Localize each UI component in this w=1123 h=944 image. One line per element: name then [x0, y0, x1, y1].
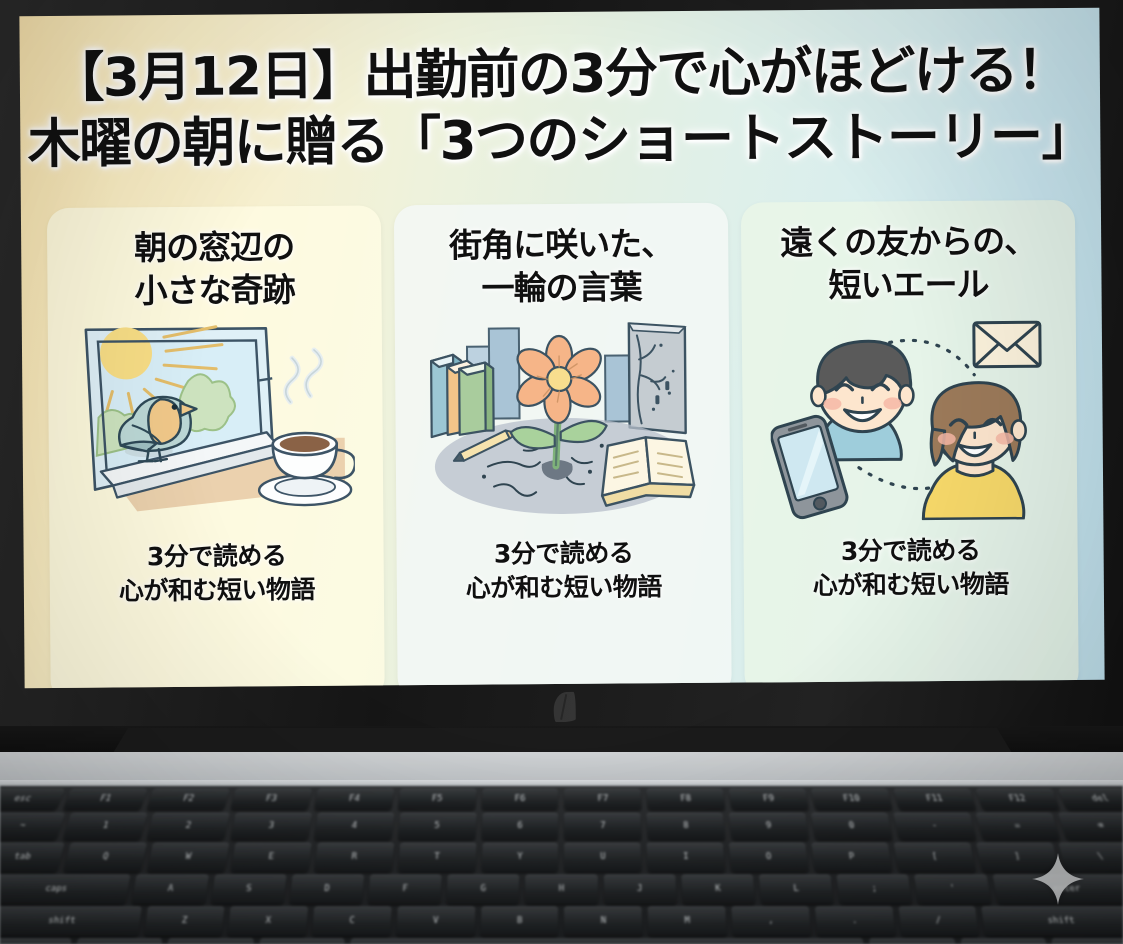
- keyboard-key[interactable]: 1: [63, 813, 148, 840]
- keyboard-key[interactable]: 7: [564, 813, 642, 840]
- keyboard-key[interactable]: fn: [74, 938, 163, 944]
- keyboard-key[interactable]: 6: [481, 813, 559, 840]
- keyboard-key[interactable]: .: [815, 906, 895, 936]
- keyboard-key[interactable]: F: [368, 874, 442, 903]
- keyboard-key[interactable]: X: [228, 906, 308, 936]
- keyboard-key[interactable]: [: [894, 843, 976, 872]
- keyboard-key[interactable]: L: [759, 874, 834, 903]
- keyboard-key[interactable]: F6: [481, 789, 559, 810]
- keyboard-key[interactable]: D: [289, 874, 364, 903]
- keyboard-key[interactable]: space: [350, 938, 865, 944]
- story-card-street-flower[interactable]: 街角に咲いた、 一輪の言葉: [394, 203, 732, 689]
- keyboard-key[interactable]: /: [898, 906, 979, 936]
- card-footer: 3分で読める 心が和む短い物語: [465, 536, 662, 605]
- keyboard-key[interactable]: F11: [893, 789, 976, 810]
- story-card-friend-message[interactable]: 遠くの友からの、 短いエール: [741, 200, 1079, 688]
- keyboard-key[interactable]: F3: [230, 789, 312, 810]
- keyboard-key[interactable]: ': [914, 874, 991, 903]
- keyboard-key[interactable]: ⌫: [1058, 813, 1123, 840]
- card-heading: 遠くの友からの、 短いエール: [780, 220, 1037, 308]
- keyboard-key[interactable]: caps: [0, 874, 131, 903]
- leaf-logo: [553, 692, 575, 722]
- keyboard-key[interactable]: J: [603, 874, 676, 903]
- keyboard-key[interactable]: alt: [166, 938, 254, 944]
- keyboard-key[interactable]: shift: [0, 906, 141, 936]
- laptop-display: 【3月12日】出勤前の3分で心がほどける！ 木曜の朝に贈る「3つのショートストー…: [19, 8, 1104, 688]
- keyboard-key[interactable]: cmd: [258, 938, 345, 944]
- keyboard-key[interactable]: tab: [0, 843, 65, 872]
- keyboard-key[interactable]: ;: [837, 874, 913, 903]
- keyboard-key[interactable]: F4: [314, 789, 394, 810]
- keyboard-key[interactable]: 2: [146, 813, 229, 840]
- keyboard-key[interactable]: H: [525, 874, 598, 903]
- card-heading: 街角に咲いた、 一輪の言葉: [449, 223, 674, 311]
- keyboard-key[interactable]: K: [681, 874, 755, 903]
- keyboard-key[interactable]: C: [312, 906, 392, 936]
- keyboard-key[interactable]: alt: [960, 938, 1049, 944]
- keyboard-key[interactable]: P: [811, 843, 892, 872]
- keyboard-key[interactable]: U: [564, 843, 642, 872]
- keyboard-row-function[interactable]: escF1F2F3F4F5F6F7F8F9F10F11F12del: [0, 789, 1123, 810]
- keyboard-key[interactable]: G: [447, 874, 520, 903]
- keyboard-key[interactable]: S: [211, 874, 287, 903]
- keyboard-key[interactable]: A: [132, 874, 209, 903]
- keyboard-key[interactable]: T: [397, 843, 476, 872]
- keyboard-key[interactable]: 3: [230, 813, 312, 840]
- keyboard-key[interactable]: F2: [146, 789, 229, 810]
- laptop-device: 【3月12日】出勤前の3分で心がほどける！ 木曜の朝に贈る「3つのショートストー…: [0, 0, 1123, 944]
- keyboard-row-home[interactable]: capsASDFGHJKL;'enter: [0, 874, 1123, 903]
- keyboard-key[interactable]: F8: [647, 789, 726, 810]
- keyboard-key[interactable]: 5: [397, 813, 476, 840]
- sparkle-icon: [1031, 852, 1085, 906]
- keyboard-key[interactable]: N: [564, 906, 642, 936]
- card-heading: 朝の窓辺の 小さな奇跡: [134, 226, 295, 313]
- keyboard-key[interactable]: F7: [564, 789, 642, 810]
- keyboard-key[interactable]: I: [647, 843, 726, 872]
- keyboard-key[interactable]: Y: [481, 843, 559, 872]
- keyboard-key[interactable]: del: [1058, 789, 1123, 810]
- keyboard-row-bottom[interactable]: shiftZXCVBNM,./shift: [0, 906, 1123, 936]
- keyboard-key[interactable]: esc: [0, 789, 65, 810]
- keyboard-key[interactable]: 9: [729, 813, 809, 840]
- keyboard-key[interactable]: F12: [976, 789, 1060, 810]
- card-footer: 3分で読める 心が和む短い物語: [118, 539, 315, 608]
- keyboard-key[interactable]: 8: [647, 813, 726, 840]
- keyboard-key[interactable]: Z: [144, 906, 225, 936]
- slide-title-line-1: 【3月12日】出勤前の3分で心がほどける！: [20, 38, 1100, 113]
- keyboard-key[interactable]: -: [893, 813, 976, 840]
- laptop-keyboard[interactable]: escF1F2F3F4F5F6F7F8F9F10F11F12del ~12345…: [0, 786, 1123, 944]
- keyboard-key[interactable]: R: [314, 843, 394, 872]
- keyboard-key[interactable]: B: [480, 906, 558, 936]
- keyboard-key[interactable]: ,: [731, 906, 811, 936]
- keyboard-key[interactable]: F10: [811, 789, 893, 810]
- slide-title: 【3月12日】出勤前の3分で心がほどける！ 木曜の朝に贈る「3つのショートストー…: [20, 38, 1101, 179]
- keyboard-key[interactable]: M: [648, 906, 727, 936]
- keyboard-key[interactable]: cmd: [869, 938, 957, 944]
- keyboard-row-modifier[interactable]: ctrlfnaltcmdspacecmdaltctrl: [0, 938, 1123, 944]
- bird-window-coffee-illustration: [76, 319, 356, 526]
- keyboard-key[interactable]: F5: [397, 789, 476, 810]
- flower-pavement-books-illustration: [423, 317, 703, 524]
- keyboard-key[interactable]: E: [230, 843, 311, 872]
- keyboard-key[interactable]: ctrl: [1052, 938, 1123, 944]
- keyboard-key[interactable]: F9: [729, 789, 809, 810]
- keyboard-key[interactable]: ctrl: [0, 938, 71, 944]
- card-footer: 3分で読める 心が和む短い物語: [812, 533, 1009, 602]
- slide-title-line-2: 木曜の朝に贈る「3つのショートストーリー」: [20, 104, 1100, 179]
- keyboard-key[interactable]: =: [976, 813, 1061, 840]
- keyboard-key[interactable]: Q: [63, 843, 147, 872]
- keyboard-key[interactable]: W: [147, 843, 229, 872]
- keyboard-key[interactable]: F1: [63, 789, 147, 810]
- keyboard-key[interactable]: V: [396, 906, 475, 936]
- keyboard-key[interactable]: 0: [811, 813, 893, 840]
- story-card-list: 朝の窓辺の 小さな奇跡: [47, 200, 1079, 688]
- keyboard-row-number[interactable]: ~1234567890-=⌫: [0, 813, 1123, 840]
- keyboard-key[interactable]: O: [729, 843, 809, 872]
- keyboard-row-qwerty[interactable]: tabQWERTYUIOP[]\: [0, 843, 1123, 872]
- two-friends-phone-envelope-illustration: [770, 314, 1050, 521]
- keyboard-key[interactable]: 4: [314, 813, 394, 840]
- story-card-morning-window[interactable]: 朝の窓辺の 小さな奇跡: [47, 205, 385, 688]
- keyboard-key[interactable]: shift: [982, 906, 1123, 936]
- keyboard-key[interactable]: ~: [0, 813, 65, 840]
